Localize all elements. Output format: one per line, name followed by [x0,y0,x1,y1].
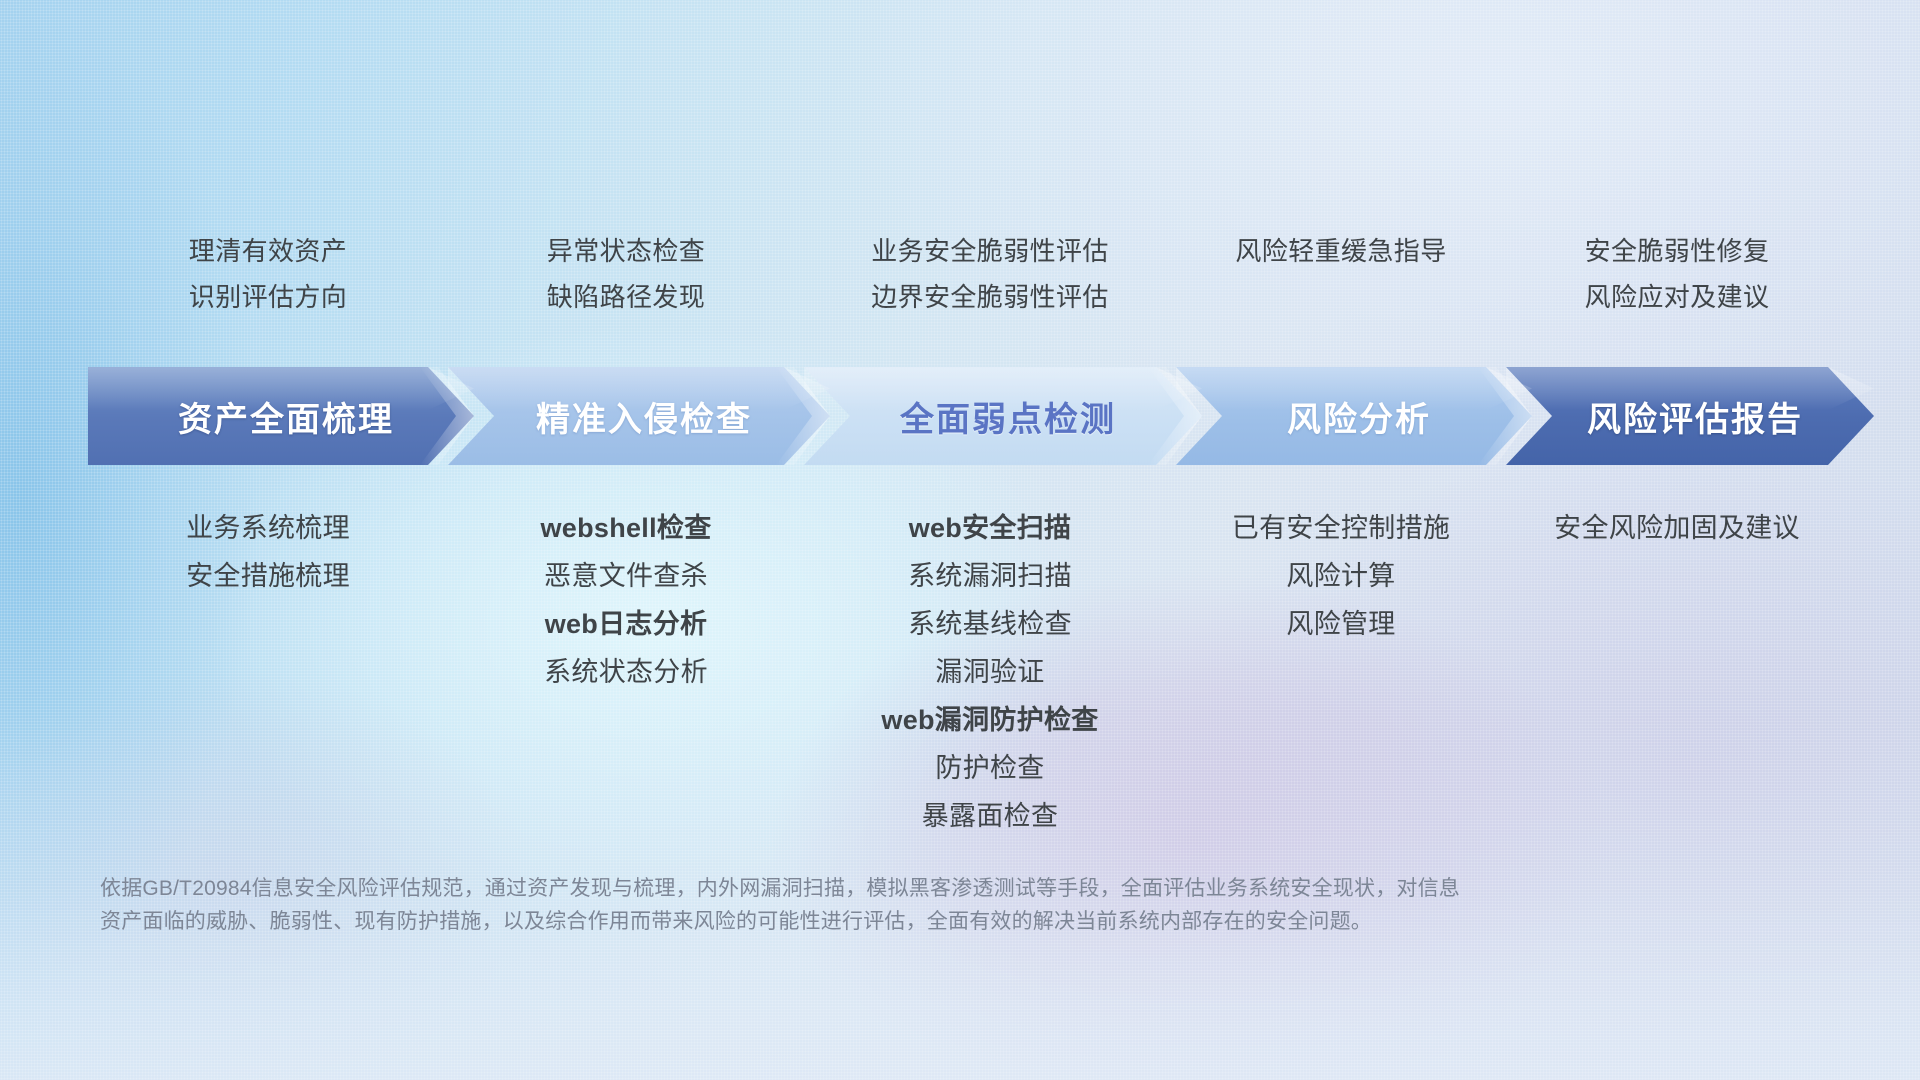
top-caption-group-1: 理清有效资产识别评估方向 [88,228,448,320]
process-arrow-5[interactable]: 风险评估报告 [1506,367,1874,465]
list-item: 风险管理 [1286,600,1395,648]
process-arrow-4[interactable]: 风险分析 [1176,367,1532,465]
list-item: 漏洞验证 [935,648,1044,696]
arrow-label: 风险分析 [1287,392,1431,441]
diagram-content: 理清有效资产识别评估方向异常状态检查缺陷路径发现业务安全脆弱性评估边界安全脆弱性… [0,0,1920,1080]
list-item: 风险计算 [1286,552,1395,600]
list-item: 防护检查 [935,744,1044,792]
arrow-label: 全面弱点检测 [900,392,1116,441]
top-caption: 理清有效资产 [189,228,347,274]
arrow-label: 资产全面梳理 [178,392,394,441]
top-caption: 边界安全脆弱性评估 [871,274,1109,320]
list-item: webshell检查 [540,504,711,552]
process-arrow-2[interactable]: 精准入侵检查 [448,367,830,465]
list-item: 安全风险加固及建议 [1554,504,1800,552]
top-caption: 安全脆弱性修复 [1585,228,1770,274]
arrow-label: 风险评估报告 [1587,392,1803,441]
footer-line-2: 资产面临的威胁、脆弱性、现有防护措施，以及综合作用而带来风险的可能性进行评估，全… [100,905,1660,938]
top-caption: 风险应对及建议 [1585,274,1770,320]
list-item: 系统基线检查 [908,600,1072,648]
bottom-item-group-3: web安全扫描系统漏洞扫描系统基线检查漏洞验证web漏洞防护检查防护检查暴露面检… [804,504,1176,840]
list-item: web日志分析 [545,600,708,648]
list-item: 业务系统梳理 [186,504,350,552]
footer-description: 依据GB/T20984信息安全风险评估规范，通过资产发现与梳理，内外网漏洞扫描，… [100,872,1660,938]
arrow-label: 精准入侵检查 [536,392,752,441]
bottom-item-group-4: 已有安全控制措施风险计算风险管理 [1176,504,1506,648]
top-caption: 缺陷路径发现 [547,274,705,320]
list-item: web安全扫描 [909,504,1072,552]
top-caption-group-4: 风险轻重缓急指导 [1176,228,1506,320]
top-caption-group-3: 业务安全脆弱性评估边界安全脆弱性评估 [804,228,1176,320]
bottom-items-row: 业务系统梳理安全措施梳理webshell检查恶意文件查杀web日志分析系统状态分… [0,504,1920,840]
list-item: 暴露面检查 [922,792,1059,840]
list-item: 系统漏洞扫描 [908,552,1072,600]
top-caption: 识别评估方向 [189,274,347,320]
bottom-item-group-5: 安全风险加固及建议 [1506,504,1848,552]
process-arrow-band: 资产全面梳理精准入侵检查全面弱点检测风险分析风险评估报告 [88,367,1848,465]
top-caption: 异常状态检查 [547,228,705,274]
list-item: web漏洞防护检查 [881,696,1098,744]
top-caption: 业务安全脆弱性评估 [871,228,1109,274]
top-caption-group-5: 安全脆弱性修复风险应对及建议 [1506,228,1848,320]
list-item: 系统状态分析 [544,648,708,696]
top-caption-group-2: 异常状态检查缺陷路径发现 [448,228,804,320]
list-item: 安全措施梳理 [186,552,350,600]
footer-line-1: 依据GB/T20984信息安全风险评估规范，通过资产发现与梳理，内外网漏洞扫描，… [100,872,1660,905]
bottom-item-group-1: 业务系统梳理安全措施梳理 [88,504,448,600]
top-caption: 风险轻重缓急指导 [1235,228,1446,274]
bottom-item-group-2: webshell检查恶意文件查杀web日志分析系统状态分析 [448,504,804,696]
process-arrow-1[interactable]: 资产全面梳理 [88,367,474,465]
top-captions-row: 理清有效资产识别评估方向异常状态检查缺陷路径发现业务安全脆弱性评估边界安全脆弱性… [0,228,1920,320]
list-item: 已有安全控制措施 [1232,504,1450,552]
list-item: 恶意文件查杀 [544,552,708,600]
process-arrow-3[interactable]: 全面弱点检测 [804,367,1202,465]
